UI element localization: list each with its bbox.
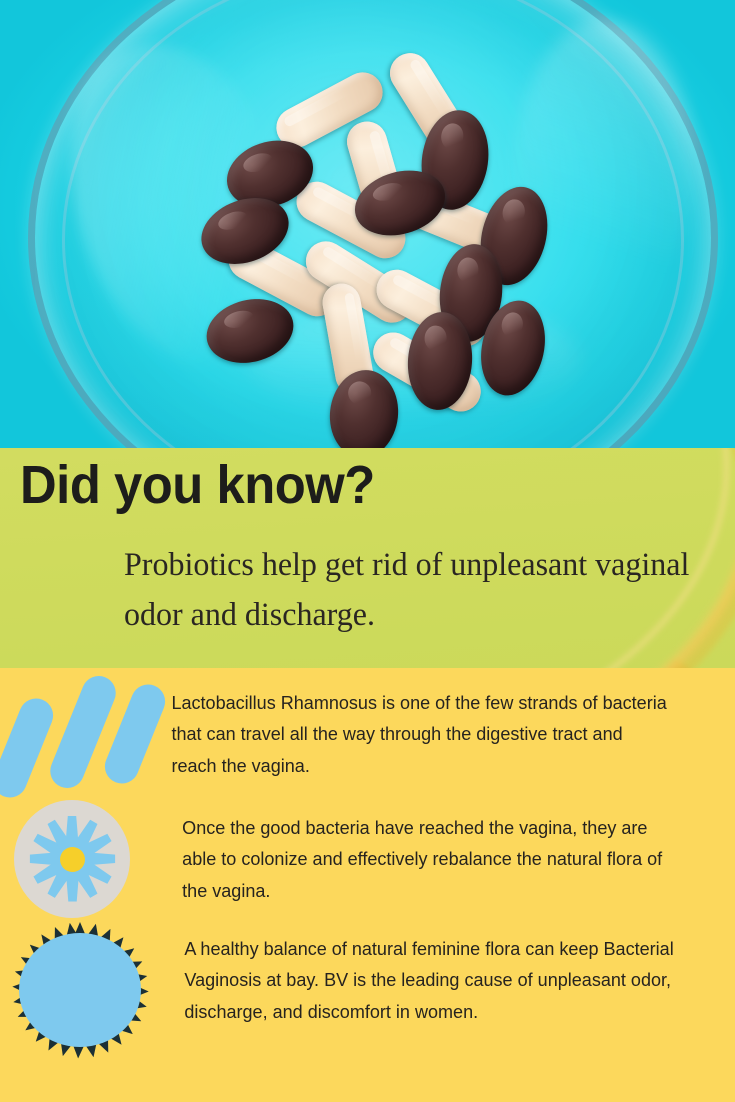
facts-section: Lactobacillus Rhamnosus is one of the fe…	[0, 668, 735, 1102]
fact-text: Lactobacillus Rhamnosus is one of the fe…	[150, 668, 669, 788]
flower-petals	[14, 800, 130, 918]
spiky-circle-icon	[0, 923, 160, 1055]
did-you-know-banner: Did you know? Probiotics help get rid of…	[0, 448, 735, 668]
bar-shape	[0, 693, 58, 802]
bowl-highlight-right	[515, 20, 695, 320]
fact-item: Once the good bacteria have reached the …	[0, 798, 678, 918]
flower-center	[60, 847, 85, 872]
fact-item: A healthy balance of natural feminine fl…	[0, 923, 688, 1055]
probiotic-capsules-photo	[0, 0, 735, 450]
fact-text: A healthy balance of natural feminine fl…	[160, 923, 675, 1055]
infographic-poster: Did you know? Probiotics help get rid of…	[0, 0, 735, 1102]
page-title: Did you know?	[20, 458, 375, 512]
fact-item: Lactobacillus Rhamnosus is one of the fe…	[0, 668, 682, 788]
flower-burst-icon	[0, 798, 150, 918]
spiky-disc-body	[19, 933, 141, 1047]
spike-shape	[72, 1045, 83, 1058]
page-subtitle: Probiotics help get rid of unpleasant va…	[124, 540, 696, 640]
fact-text: Once the good bacteria have reached the …	[150, 798, 665, 918]
three-diagonal-bars-icon	[0, 668, 150, 788]
